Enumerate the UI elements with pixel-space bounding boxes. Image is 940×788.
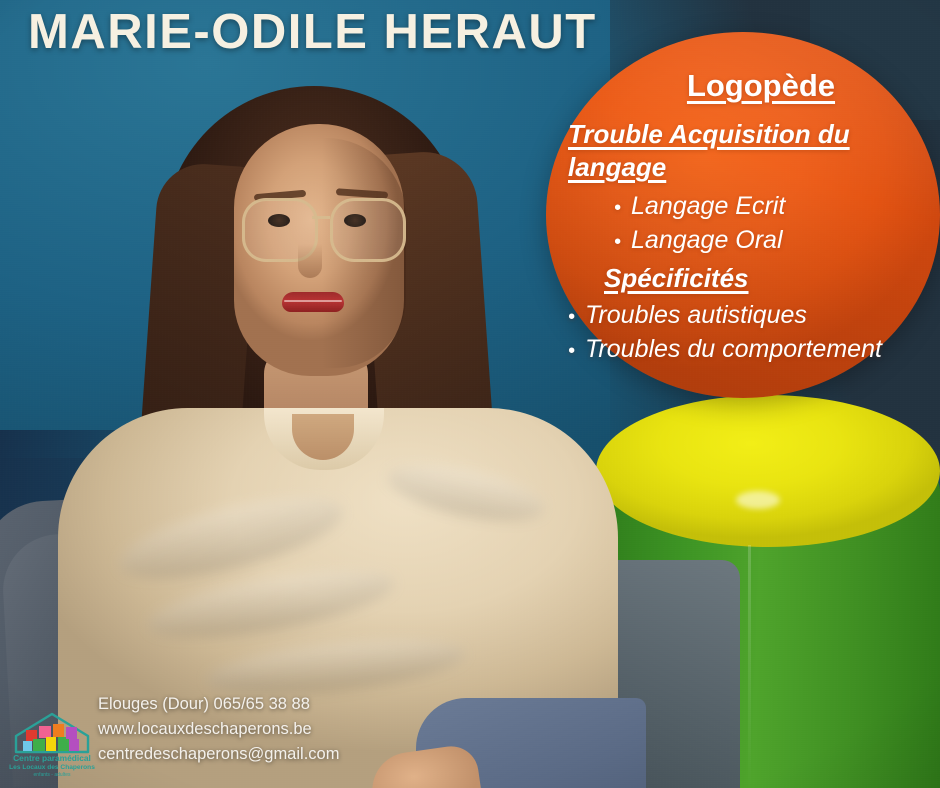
list-item-label: Langage Ecrit <box>631 189 785 223</box>
list-item-label: Troubles autistiques <box>585 298 807 332</box>
contact-website[interactable]: www.locauxdeschaperons.be <box>98 717 339 742</box>
section-title-trouble-acquisition: Trouble Acquisition du langage <box>568 118 940 185</box>
nose <box>298 244 322 278</box>
page-title: MARIE-ODILE HERAUT <box>28 4 597 60</box>
poster-canvas: MARIE-ODILE HERAUT Logopède Trouble Acqu… <box>0 0 940 788</box>
eyeglass-lens-right <box>330 198 406 262</box>
logo-name-line-3: enfants - adultes <box>34 772 71 778</box>
section-title-specificites: Spécificités <box>604 263 940 294</box>
logo-name-line-2: Les Locaux des Chaperons <box>9 764 95 771</box>
logo-name-line-1: Centre paramédical <box>13 753 91 763</box>
teeth-line <box>284 300 342 302</box>
profession-heading: Logopède <box>568 68 940 104</box>
bullet-icon: • <box>614 232 621 252</box>
eyeglass-bridge <box>312 216 330 219</box>
bullet-icon: • <box>568 307 575 327</box>
list-item-label: Troubles du comportement <box>585 332 882 366</box>
pouf-highlight <box>736 491 780 509</box>
contact-address-phone: Elouges (Dour) 065/65 38 88 <box>98 692 339 717</box>
logo-centre-paramedical: Centre paramédical Les Locaux des Chaper… <box>6 706 98 778</box>
list-item: • Langage Oral <box>614 223 940 257</box>
portrait-person <box>86 78 606 788</box>
list-langage: • Langage Ecrit • Langage Oral <box>614 189 940 257</box>
logo-house-icon: Centre paramédical Les Locaux des Chaper… <box>6 706 98 778</box>
list-item-label: Langage Oral <box>631 223 783 257</box>
list-item: • Troubles du comportement <box>568 332 940 366</box>
bullet-icon: • <box>568 341 575 361</box>
contact-info: Elouges (Dour) 065/65 38 88 www.locauxde… <box>98 692 339 767</box>
bullet-icon: • <box>614 198 621 218</box>
pouf-seam <box>748 545 751 788</box>
list-item: • Troubles autistiques <box>568 298 940 332</box>
contact-email[interactable]: centredeschaperons@gmail.com <box>98 742 339 767</box>
list-item: • Langage Ecrit <box>614 189 940 223</box>
services-panel: Logopède Trouble Acquisition du langage … <box>568 68 940 366</box>
pouf-top <box>596 395 940 547</box>
list-specificites: • Troubles autistiques • Troubles du com… <box>568 298 940 366</box>
lips <box>282 292 344 312</box>
